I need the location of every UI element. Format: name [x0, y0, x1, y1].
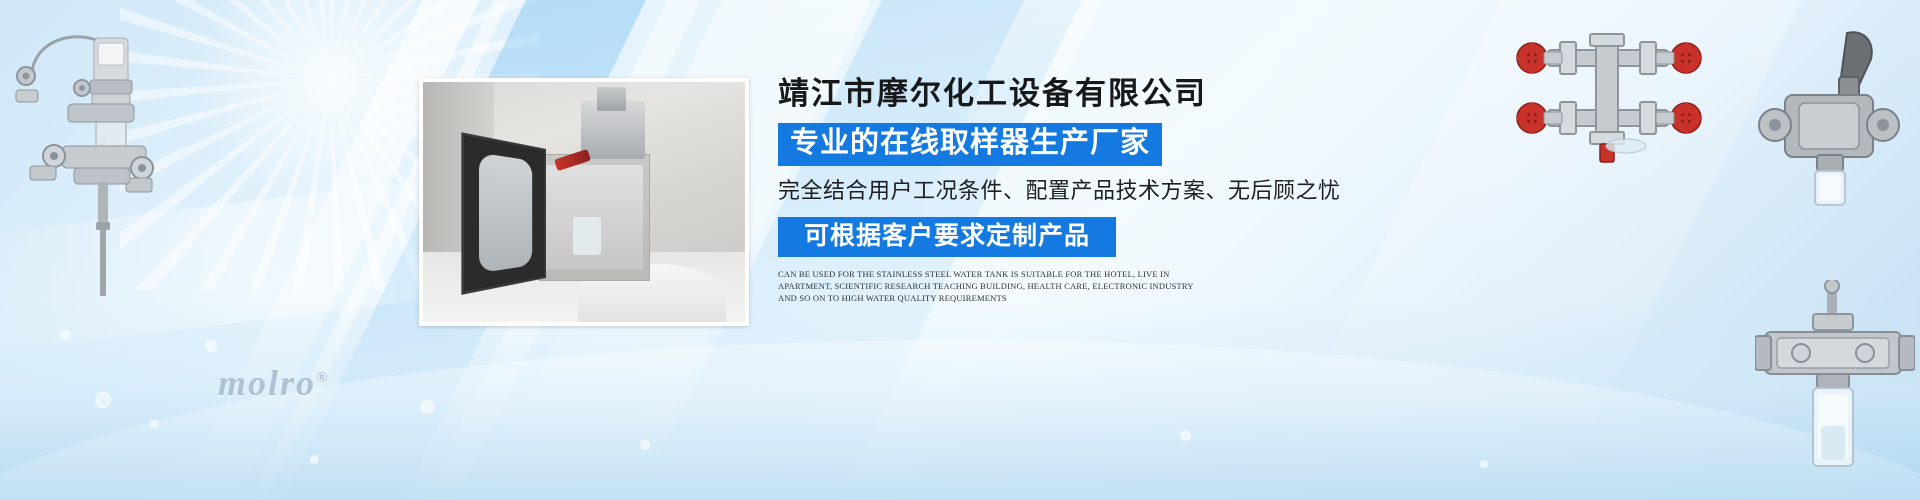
bubble-icon [60, 330, 70, 340]
bubble-icon [1480, 460, 1488, 468]
banner-text-block: 靖江市摩尔化工设备有限公司 专业的在线取样器生产厂家 完全结合用户工况条件、配置… [778, 74, 1418, 304]
subline-text: 完全结合用户工况条件、配置产品技术方案、无后顾之忧 [778, 176, 1418, 206]
photo-sample-bottle [573, 217, 601, 254]
product-photo-image [423, 82, 745, 322]
photo-cabinet-door [461, 132, 546, 294]
product-photo [419, 78, 749, 326]
english-description: CAN BE USED FOR THE STAINLESS STEEL WATE… [778, 268, 1198, 304]
company-name: 靖江市摩尔化工设备有限公司 [778, 74, 1418, 114]
registered-mark-icon: ® [316, 370, 329, 386]
right-equipment-manifold-image [1500, 28, 1720, 168]
right-equipment-inline-valve-image [1755, 280, 1915, 480]
headline-banner: 专业的在线取样器生产厂家 [778, 123, 1162, 166]
photo-cabinet [539, 154, 650, 281]
watermark-text: molro [218, 363, 316, 403]
bubble-icon [205, 340, 217, 352]
watermark-logo: molro® [218, 362, 329, 404]
bubble-icon [1180, 430, 1191, 441]
photo-valve-top [597, 87, 626, 111]
left-equipment-image [10, 18, 190, 308]
bubble-icon [150, 420, 158, 428]
cta-banner: 可根据客户要求定制产品 [778, 217, 1116, 257]
bubble-icon [95, 392, 111, 408]
promotional-banner: 靖江市摩尔化工设备有限公司 专业的在线取样器生产厂家 完全结合用户工况条件、配置… [0, 0, 1920, 500]
bubble-icon [640, 440, 650, 450]
right-equipment-lever-valve-image [1755, 25, 1905, 215]
bubble-icon [420, 400, 434, 414]
bubble-icon [310, 455, 319, 464]
photo-door-window [479, 153, 532, 273]
